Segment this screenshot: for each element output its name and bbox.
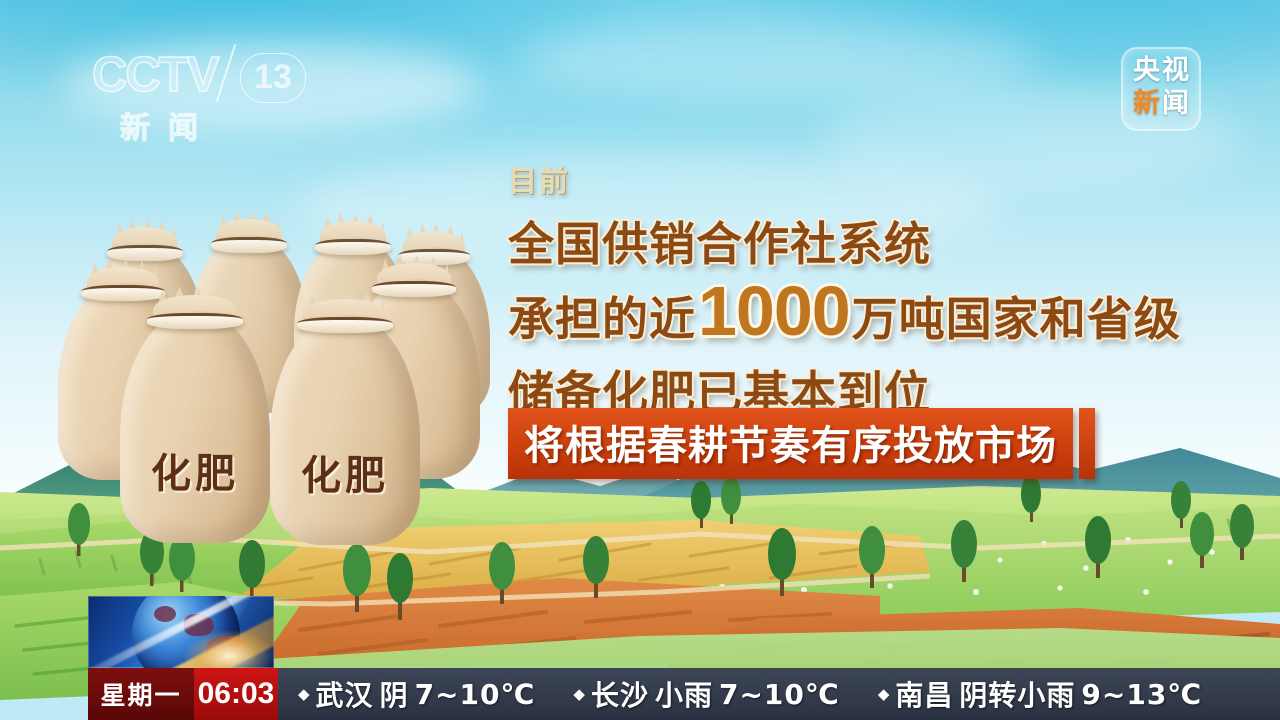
watermark-char-wen: 闻: [1162, 90, 1189, 117]
banner-main-block: 将根据春耕节奏有序投放市场: [508, 408, 1073, 479]
diamond-icon: ◆: [878, 687, 890, 702]
fertilizer-sacks-illustration: 化肥 化肥: [48, 215, 518, 545]
clock-text: 06:03: [198, 677, 275, 711]
weather-temp: 7~10℃: [719, 678, 840, 711]
headline-block: 目前 全国供销合作社系统 承担的近 1000 万吨国家和省级 储备化肥已基本到位: [508, 158, 1208, 423]
globe-bug-graphic: [88, 596, 274, 668]
watermark-char-xin: 新: [1133, 90, 1160, 117]
weather-temp: 9~13℃: [1081, 678, 1202, 711]
banner-text: 将根据春耕节奏有序投放市场: [524, 423, 1057, 469]
headline-line-2: 承担的近 1000 万吨国家和省级: [508, 282, 1208, 349]
headline-kicker: 目前: [508, 158, 1208, 200]
weather-ticker-strip: ◆ 武汉 阴 7~10℃ ◆ 长沙 小雨 7~10℃ ◆ 南昌 阴转小雨 9~1…: [278, 668, 1280, 720]
tv-broadcast-frame: 化肥 化肥 CCTV 13 新闻 央 视 新 闻 目前 全国供销合作社系统 承担…: [0, 0, 1280, 720]
sack-label-text: 化肥: [120, 441, 270, 499]
sack-label-text: 化肥: [270, 443, 420, 501]
headline-number: 1000: [698, 282, 850, 342]
bottom-ticker-bar: 星期一 06:03 ◆ 武汉 阴 7~10℃ ◆ 长沙 小雨 7~10℃ ◆ 南…: [0, 668, 1280, 720]
headline-line-2-prefix: 承担的近: [508, 283, 696, 349]
cctv-letters: CCTV: [92, 47, 217, 103]
weather-temp: 7~10℃: [415, 678, 536, 711]
cctv13-channel-logo: CCTV 13 新闻: [92, 45, 312, 140]
cctv-channel-number: 13: [240, 53, 306, 103]
fertilizer-sack-front-left: 化肥: [120, 293, 270, 543]
weekday-text: 星期一: [100, 676, 181, 712]
diamond-icon: ◆: [573, 687, 585, 702]
weather-city: 武汉: [316, 674, 374, 714]
cctv-news-label: 新闻: [120, 103, 216, 147]
diamond-icon: ◆: [298, 687, 310, 702]
banner-end-cap: [1079, 408, 1095, 479]
headline-line-1: 全国供销合作社系统: [508, 208, 1208, 274]
headline-line-2-suffix: 万吨国家和省级: [852, 283, 1181, 349]
weather-item-nanchang: ◆ 南昌 阴转小雨 9~13℃: [878, 674, 1202, 714]
weather-condition: 阴: [380, 674, 409, 714]
weather-city: 南昌: [895, 674, 953, 714]
weather-condition: 小雨: [655, 674, 713, 714]
watermark-char-shi: 视: [1162, 57, 1189, 84]
weather-condition: 阴转小雨: [959, 674, 1075, 714]
weekday-block: 星期一: [88, 668, 194, 720]
weather-city: 长沙: [591, 674, 649, 714]
headline-banner: 将根据春耕节奏有序投放市场: [508, 408, 1095, 479]
weather-item-wuhan: ◆ 武汉 阴 7~10℃: [298, 674, 535, 714]
cctv-news-watermark: 央 视 新 闻: [1121, 47, 1201, 131]
watermark-char-yang: 央: [1133, 57, 1160, 84]
clock-block: 06:03: [194, 668, 278, 720]
fertilizer-sack-front-right: 化肥: [270, 297, 420, 545]
weather-item-changsha: ◆ 长沙 小雨 7~10℃: [573, 674, 839, 714]
logo-slash: [216, 44, 236, 102]
